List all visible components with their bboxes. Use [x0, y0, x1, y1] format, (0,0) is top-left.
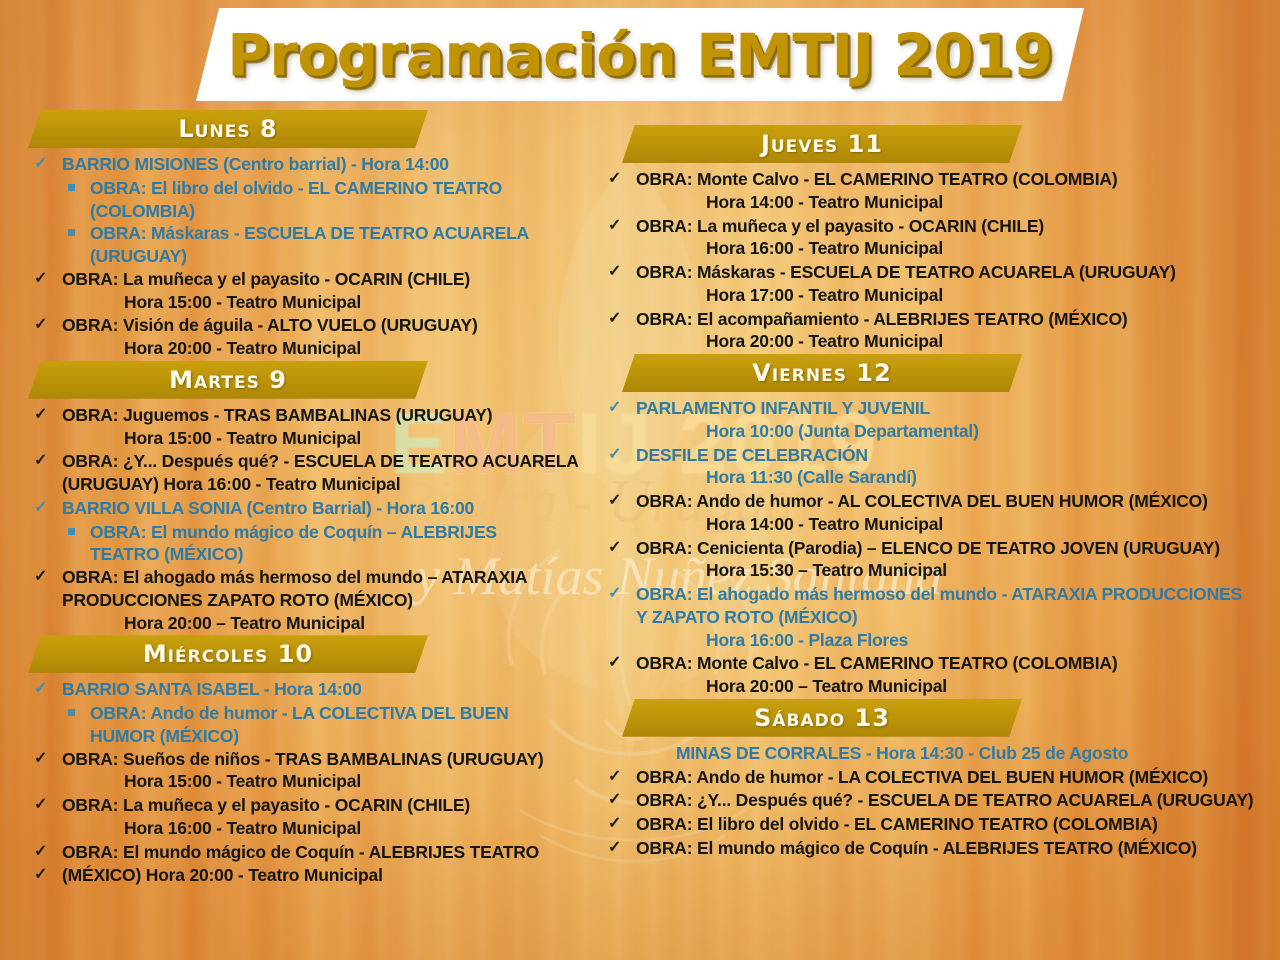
entry-line: OBRA: El libro del olvido - EL CAMERINO … — [636, 813, 1260, 836]
entry-time-line: Hora 15:30 – Teatro Municipal — [636, 559, 1260, 582]
entry-line: BARRIO VILLA SONIA (Centro Barrial) - Ho… — [62, 497, 580, 520]
entry-line: OBRA: El ahogado más hermoso del mundo -… — [636, 583, 1260, 606]
schedule-content: Lunes 8✓BARRIO MISIONES (Centro barrial)… — [0, 0, 1280, 960]
schedule-entry: ✓OBRA: El mundo mágico de Coquín - ALEBR… — [28, 841, 580, 864]
sub-entry-list: OBRA: Ando de humor - LA COLECTIVA DEL B… — [28, 702, 580, 748]
sub-entry-line: OBRA: Máskaras - ESCUELA DE TEATRO ACUAR… — [90, 222, 580, 245]
entry-time-line: Hora 15:00 - Teatro Municipal — [62, 291, 580, 314]
entry-time-line: Hora 20:00 – Teatro Municipal — [636, 675, 1260, 698]
entry-line: Y ZAPATO ROTO (MÉXICO) — [636, 606, 1260, 629]
entry-time-line: Hora 16:00 - Teatro Municipal — [62, 817, 580, 840]
schedule-entry: ✓OBRA: El mundo mágico de Coquín - ALEBR… — [600, 837, 1260, 860]
entry-line: BARRIO MISIONES (Centro barrial) - Hora … — [62, 153, 580, 176]
schedule-entry: ✓OBRA: Máskaras - ESCUELA DE TEATRO ACUA… — [600, 261, 1260, 307]
sub-entry-line: OBRA: Ando de humor - LA COLECTIVA DEL B… — [90, 702, 580, 725]
entry-time-line: Hora 14:00 - Teatro Municipal — [636, 191, 1260, 214]
entry-line: OBRA: Visión de águila - ALTO VUELO (URU… — [62, 314, 580, 337]
check-icon: ✓ — [34, 679, 47, 699]
schedule-entry: ✓OBRA: El acompañamiento - ALEBRIJES TEA… — [600, 308, 1260, 354]
check-icon: ✓ — [608, 398, 621, 418]
schedule-entry: ✓(MÉXICO) Hora 20:00 - Teatro Municipal — [28, 864, 580, 887]
schedule-entry: ✓OBRA: La muñeca y el payasito - OCARIN … — [28, 268, 580, 314]
check-icon: ✓ — [608, 216, 621, 236]
check-icon: ✓ — [608, 169, 621, 189]
check-icon: ✓ — [34, 842, 47, 862]
schedule-entry: ✓OBRA: Ando de humor - AL COLECTIVA DEL … — [600, 490, 1260, 536]
schedule-entry: ✓MINAS DE CORRALES - Hora 14:30 - Club 2… — [600, 742, 1260, 765]
schedule-entry: ✓OBRA: Sueños de niños - TRAS BAMBALINAS… — [28, 748, 580, 794]
entry-time-line: Hora 11:30 (Calle Sarandí) — [636, 466, 1260, 489]
schedule-entry: ✓OBRA: La muñeca y el payasito - OCARIN … — [28, 794, 580, 840]
sub-entry-list: OBRA: El mundo mágico de Coquín – ALEBRI… — [28, 521, 580, 567]
schedule-entry: ✓PARLAMENTO INFANTIL Y JUVENILHora 10:00… — [600, 397, 1260, 443]
schedule-entry: ✓OBRA: El ahogado más hermoso del mundo … — [28, 566, 580, 634]
day-header-jueves-11: Jueves 11 — [622, 125, 1022, 163]
check-icon: ✓ — [34, 154, 47, 174]
entry-line: OBRA: Ando de humor - AL COLECTIVA DEL B… — [636, 490, 1260, 513]
schedule-entry: ✓BARRIO VILLA SONIA (Centro Barrial) - H… — [28, 497, 580, 520]
check-icon: ✓ — [608, 538, 621, 558]
entry-time-line: Hora 14:00 - Teatro Municipal — [636, 513, 1260, 536]
sub-entry-line: HUMOR (MÉXICO) — [90, 725, 580, 748]
entry-line: OBRA: El mundo mágico de Coquín - ALEBRI… — [636, 837, 1260, 860]
check-icon: ✓ — [34, 315, 47, 335]
check-icon: ✓ — [608, 491, 621, 511]
day-header-label: Miércoles 10 — [143, 640, 313, 668]
day-header-label: Sábado 13 — [754, 704, 890, 732]
entry-line: OBRA: La muñeca y el payasito - OCARIN (… — [62, 794, 580, 817]
entry-line: OBRA: La muñeca y el payasito - OCARIN (… — [636, 215, 1260, 238]
check-icon: ✓ — [34, 498, 47, 518]
check-icon: ✓ — [608, 262, 621, 282]
entry-line: (MÉXICO) Hora 20:00 - Teatro Municipal — [62, 864, 580, 887]
entry-time-line: Hora 16:00 - Plaza Flores — [636, 629, 1260, 652]
sub-entry-line: (URUGUAY) — [90, 245, 580, 268]
schedule-entry: ✓OBRA: Visión de águila - ALTO VUELO (UR… — [28, 314, 580, 360]
day-header-viernes-12: Viernes 12 — [622, 354, 1022, 392]
entry-line: DESFILE DE CELEBRACIÓN — [636, 444, 1260, 467]
square-bullet-icon — [68, 528, 75, 535]
check-icon: ✓ — [34, 749, 47, 769]
entry-time-line: Hora 16:00 - Teatro Municipal — [636, 237, 1260, 260]
check-icon: ✓ — [608, 790, 621, 810]
sub-entry: OBRA: Ando de humor - LA COLECTIVA DEL B… — [28, 702, 580, 748]
day-header-lunes-8: Lunes 8 — [28, 110, 428, 148]
entry-line: PARLAMENTO INFANTIL Y JUVENIL — [636, 397, 1260, 420]
schedule-entry: ✓OBRA: El libro del olvido - EL CAMERINO… — [600, 813, 1260, 836]
check-icon: ✓ — [34, 405, 47, 425]
entry-line: (URUGUAY) Hora 16:00 - Teatro Municipal — [62, 473, 580, 496]
entry-line: OBRA: Monte Calvo - EL CAMERINO TEATRO (… — [636, 168, 1260, 191]
sub-entry: OBRA: El libro del olvido - EL CAMERINO … — [28, 177, 580, 223]
entry-line: OBRA: ¿Y... Después qué? - ESCUELA DE TE… — [636, 789, 1260, 812]
check-icon: ✓ — [608, 653, 621, 673]
check-icon: ✓ — [34, 865, 47, 885]
day-header-miercoles-10: Miércoles 10 — [28, 635, 428, 673]
entry-line: OBRA: Máskaras - ESCUELA DE TEATRO ACUAR… — [636, 261, 1260, 284]
schedule-entry: ✓BARRIO MISIONES (Centro barrial) - Hora… — [28, 153, 580, 176]
check-icon: ✓ — [34, 567, 47, 587]
entry-line: OBRA: Cenicienta (Parodia) – ELENCO DE T… — [636, 537, 1260, 560]
sub-entry: OBRA: El mundo mágico de Coquín – ALEBRI… — [28, 521, 580, 567]
entry-line: OBRA: ¿Y... Después qué? - ESCUELA DE TE… — [62, 450, 580, 473]
square-bullet-icon — [68, 184, 75, 191]
check-icon: ✓ — [34, 795, 47, 815]
day-entry-list: ✓OBRA: Monte Calvo - EL CAMERINO TEATRO … — [600, 168, 1260, 353]
schedule-entry: ✓OBRA: El ahogado más hermoso del mundo … — [600, 583, 1260, 651]
entry-time-line: Hora 17:00 - Teatro Municipal — [636, 284, 1260, 307]
entry-time-line: Hora 10:00 (Junta Departamental) — [636, 420, 1260, 443]
check-icon: ✓ — [608, 838, 621, 858]
day-entry-list: ✓BARRIO MISIONES (Centro barrial) - Hora… — [28, 153, 580, 360]
square-bullet-icon — [68, 229, 75, 236]
day-entry-list: ✓OBRA: Juguemos - TRAS BAMBALINAS (URUGU… — [28, 404, 580, 635]
schedule-entry: ✓OBRA: Ando de humor - LA COLECTIVA DEL … — [600, 766, 1260, 789]
sub-entry-line: TEATRO (MÉXICO) — [90, 543, 580, 566]
sub-entry-line: (COLOMBIA) — [90, 200, 580, 223]
entry-line: OBRA: El ahogado más hermoso del mundo –… — [62, 566, 580, 589]
square-bullet-icon — [68, 709, 75, 716]
check-icon: ✓ — [608, 814, 621, 834]
entry-line: PRODUCCIONES ZAPATO ROTO (MÉXICO) — [62, 589, 580, 612]
entry-line: OBRA: El acompañamiento - ALEBRIJES TEAT… — [636, 308, 1260, 331]
entry-time-line: Hora 15:00 - Teatro Municipal — [62, 770, 580, 793]
entry-time-line: Hora 20:00 - Teatro Municipal — [636, 330, 1260, 353]
day-header-martes-9: Martes 9 — [28, 361, 428, 399]
schedule-entry: ✓OBRA: Juguemos - TRAS BAMBALINAS (URUGU… — [28, 404, 580, 450]
schedule-entry: ✓OBRA: ¿Y... Después qué? - ESCUELA DE T… — [28, 450, 580, 496]
schedule-entry: ✓OBRA: La muñeca y el payasito - OCARIN … — [600, 215, 1260, 261]
entry-line: OBRA: Monte Calvo - EL CAMERINO TEATRO (… — [636, 652, 1260, 675]
check-icon: ✓ — [34, 269, 47, 289]
entry-time-line: Hora 20:00 - Teatro Municipal — [62, 337, 580, 360]
entry-line: OBRA: El mundo mágico de Coquín - ALEBRI… — [62, 841, 580, 864]
sub-entry-line: OBRA: El mundo mágico de Coquín – ALEBRI… — [90, 521, 580, 544]
day-header-label: Jueves 11 — [761, 130, 883, 158]
entry-time-line: Hora 15:00 - Teatro Municipal — [62, 427, 580, 450]
day-entry-list: ✓MINAS DE CORRALES - Hora 14:30 - Club 2… — [600, 742, 1260, 860]
schedule-entry: ✓OBRA: ¿Y... Después qué? - ESCUELA DE T… — [600, 789, 1260, 812]
day-header-label: Viernes 12 — [752, 359, 891, 387]
check-icon: ✓ — [608, 767, 621, 787]
day-header-label: Lunes 8 — [178, 115, 277, 143]
entry-time-line: Hora 20:00 – Teatro Municipal — [62, 612, 580, 635]
entry-line: OBRA: Ando de humor - LA COLECTIVA DEL B… — [636, 766, 1260, 789]
day-header-sabado-13: Sábado 13 — [622, 699, 1022, 737]
entry-line: MINAS DE CORRALES - Hora 14:30 - Club 25… — [636, 742, 1260, 765]
schedule-entry: ✓OBRA: Monte Calvo - EL CAMERINO TEATRO … — [600, 652, 1260, 698]
day-entry-list: ✓BARRIO SANTA ISABEL - Hora 14:00OBRA: A… — [28, 678, 580, 887]
check-icon: ✓ — [608, 445, 621, 465]
sub-entry: OBRA: Máskaras - ESCUELA DE TEATRO ACUAR… — [28, 222, 580, 268]
schedule-entry: ✓OBRA: Cenicienta (Parodia) – ELENCO DE … — [600, 537, 1260, 583]
schedule-column-right: Jueves 11✓OBRA: Monte Calvo - EL CAMERIN… — [600, 125, 1260, 861]
entry-line: OBRA: La muñeca y el payasito - OCARIN (… — [62, 268, 580, 291]
entry-line: BARRIO SANTA ISABEL - Hora 14:00 — [62, 678, 580, 701]
entry-line: OBRA: Sueños de niños - TRAS BAMBALINAS … — [62, 748, 580, 771]
sub-entry-line: OBRA: El libro del olvido - EL CAMERINO … — [90, 177, 580, 200]
check-icon: ✓ — [608, 309, 621, 329]
schedule-column-left: Lunes 8✓BARRIO MISIONES (Centro barrial)… — [28, 110, 580, 888]
day-entry-list: ✓PARLAMENTO INFANTIL Y JUVENILHora 10:00… — [600, 397, 1260, 698]
schedule-entry: ✓DESFILE DE CELEBRACIÓNHora 11:30 (Calle… — [600, 444, 1260, 490]
check-icon: ✓ — [34, 451, 47, 471]
entry-line: OBRA: Juguemos - TRAS BAMBALINAS (URUGUA… — [62, 404, 580, 427]
schedule-entry: ✓BARRIO SANTA ISABEL - Hora 14:00 — [28, 678, 580, 701]
check-icon: ✓ — [608, 584, 621, 604]
day-header-label: Martes 9 — [169, 366, 287, 394]
sub-entry-list: OBRA: El libro del olvido - EL CAMERINO … — [28, 177, 580, 268]
schedule-entry: ✓OBRA: Monte Calvo - EL CAMERINO TEATRO … — [600, 168, 1260, 214]
